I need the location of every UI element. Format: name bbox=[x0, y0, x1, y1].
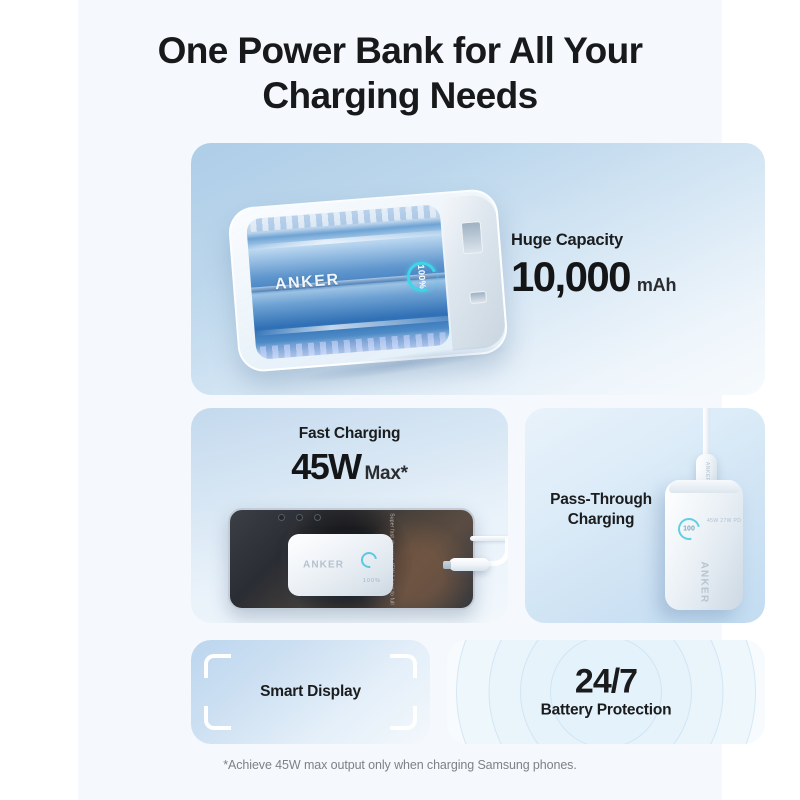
fast-charging-value-row: 45WMax* bbox=[191, 446, 508, 488]
anker-logo: ANKER bbox=[274, 271, 340, 294]
cable-brand-label: ANKER bbox=[704, 462, 710, 482]
battery-percent-ring-icon: 100% bbox=[406, 260, 438, 292]
battery-percent-ring-icon bbox=[358, 549, 380, 571]
ring-percent-label: 100% bbox=[416, 264, 428, 289]
page-title: One Power Bank for All Your Charging Nee… bbox=[78, 28, 722, 118]
page-title-line-1: One Power Bank for All Your bbox=[78, 28, 722, 73]
cell-highlight-upper bbox=[248, 230, 442, 250]
power-bank-top-cap bbox=[669, 480, 739, 493]
pass-through-label-line-2: Charging bbox=[537, 510, 665, 530]
anker-logo: ANKER bbox=[699, 561, 710, 603]
fast-charging-card: Fast Charging 45WMax* Super fast chargin… bbox=[191, 408, 508, 623]
capacity-text-block: Huge Capacity 10,000 mAh bbox=[511, 231, 761, 298]
power-bank-white-image: 100 45W 27W PD ANKER bbox=[665, 480, 743, 610]
footnote: *Achieve 45W max output only when chargi… bbox=[78, 758, 722, 772]
phone-image: Super fast charging 45W 1 hour to full A… bbox=[228, 508, 475, 610]
battery-protection-label: Battery Protection bbox=[447, 702, 765, 720]
capacity-value-row: 10,000 mAh bbox=[511, 256, 761, 298]
page-title-line-2: Charging Needs bbox=[78, 73, 722, 118]
corner-bracket-top-right-icon bbox=[390, 654, 417, 678]
smart-display-card: Smart Display bbox=[191, 640, 430, 744]
usb-c-port bbox=[469, 291, 487, 304]
power-bank-on-phone: ANKER 100% bbox=[288, 534, 393, 596]
usb-a-port bbox=[461, 221, 483, 254]
fast-charging-value: 45W bbox=[291, 446, 360, 487]
corner-bracket-top-left-icon bbox=[204, 654, 231, 678]
pass-through-label-line-1: Pass-Through bbox=[537, 490, 665, 510]
power-bank-cells: ANKER 100% bbox=[246, 204, 450, 360]
phone-camera-1 bbox=[278, 514, 285, 521]
usb-c-plug bbox=[449, 558, 489, 571]
capacity-label: Huge Capacity bbox=[511, 231, 761, 250]
pass-through-label: Pass-Through Charging bbox=[537, 490, 665, 530]
power-bank-display-sub: 100% bbox=[363, 578, 381, 584]
corner-bracket-bottom-left-icon bbox=[204, 706, 231, 730]
phone-camera-2 bbox=[296, 514, 303, 521]
battery-protection-card: 24/7 Battery Protection bbox=[447, 640, 765, 744]
anker-logo: ANKER bbox=[303, 560, 344, 571]
battery-percent-ring-icon: 100 bbox=[674, 514, 704, 544]
power-bank-display-bars: 45W 27W PD bbox=[707, 518, 741, 526]
fast-charging-unit: Max* bbox=[365, 463, 408, 484]
smart-display-label: Smart Display bbox=[191, 683, 430, 701]
cell-top-contacts bbox=[250, 204, 436, 232]
capacity-value: 10,000 bbox=[511, 256, 630, 298]
battery-protection-text-block: 24/7 Battery Protection bbox=[447, 664, 765, 719]
ring-percent-label: 100 bbox=[683, 526, 695, 533]
battery-protection-value: 24/7 bbox=[447, 664, 765, 699]
power-bank-transparent-image: ANKER 100% bbox=[227, 188, 509, 374]
fast-charging-label: Fast Charging bbox=[191, 425, 508, 443]
pass-through-card: Pass-Through Charging ANKER 100 45W 27W … bbox=[525, 408, 765, 623]
capacity-unit: mAh bbox=[637, 275, 676, 296]
cell-highlight-lower bbox=[255, 316, 449, 336]
power-bank-port-side bbox=[441, 194, 507, 351]
marketing-page: One Power Bank for All Your Charging Nee… bbox=[78, 0, 722, 800]
corner-bracket-bottom-right-icon bbox=[390, 706, 417, 730]
capacity-card: ANKER 100% Huge Capacity 10,000 mAh bbox=[191, 143, 765, 395]
phone-camera-3 bbox=[314, 514, 321, 521]
